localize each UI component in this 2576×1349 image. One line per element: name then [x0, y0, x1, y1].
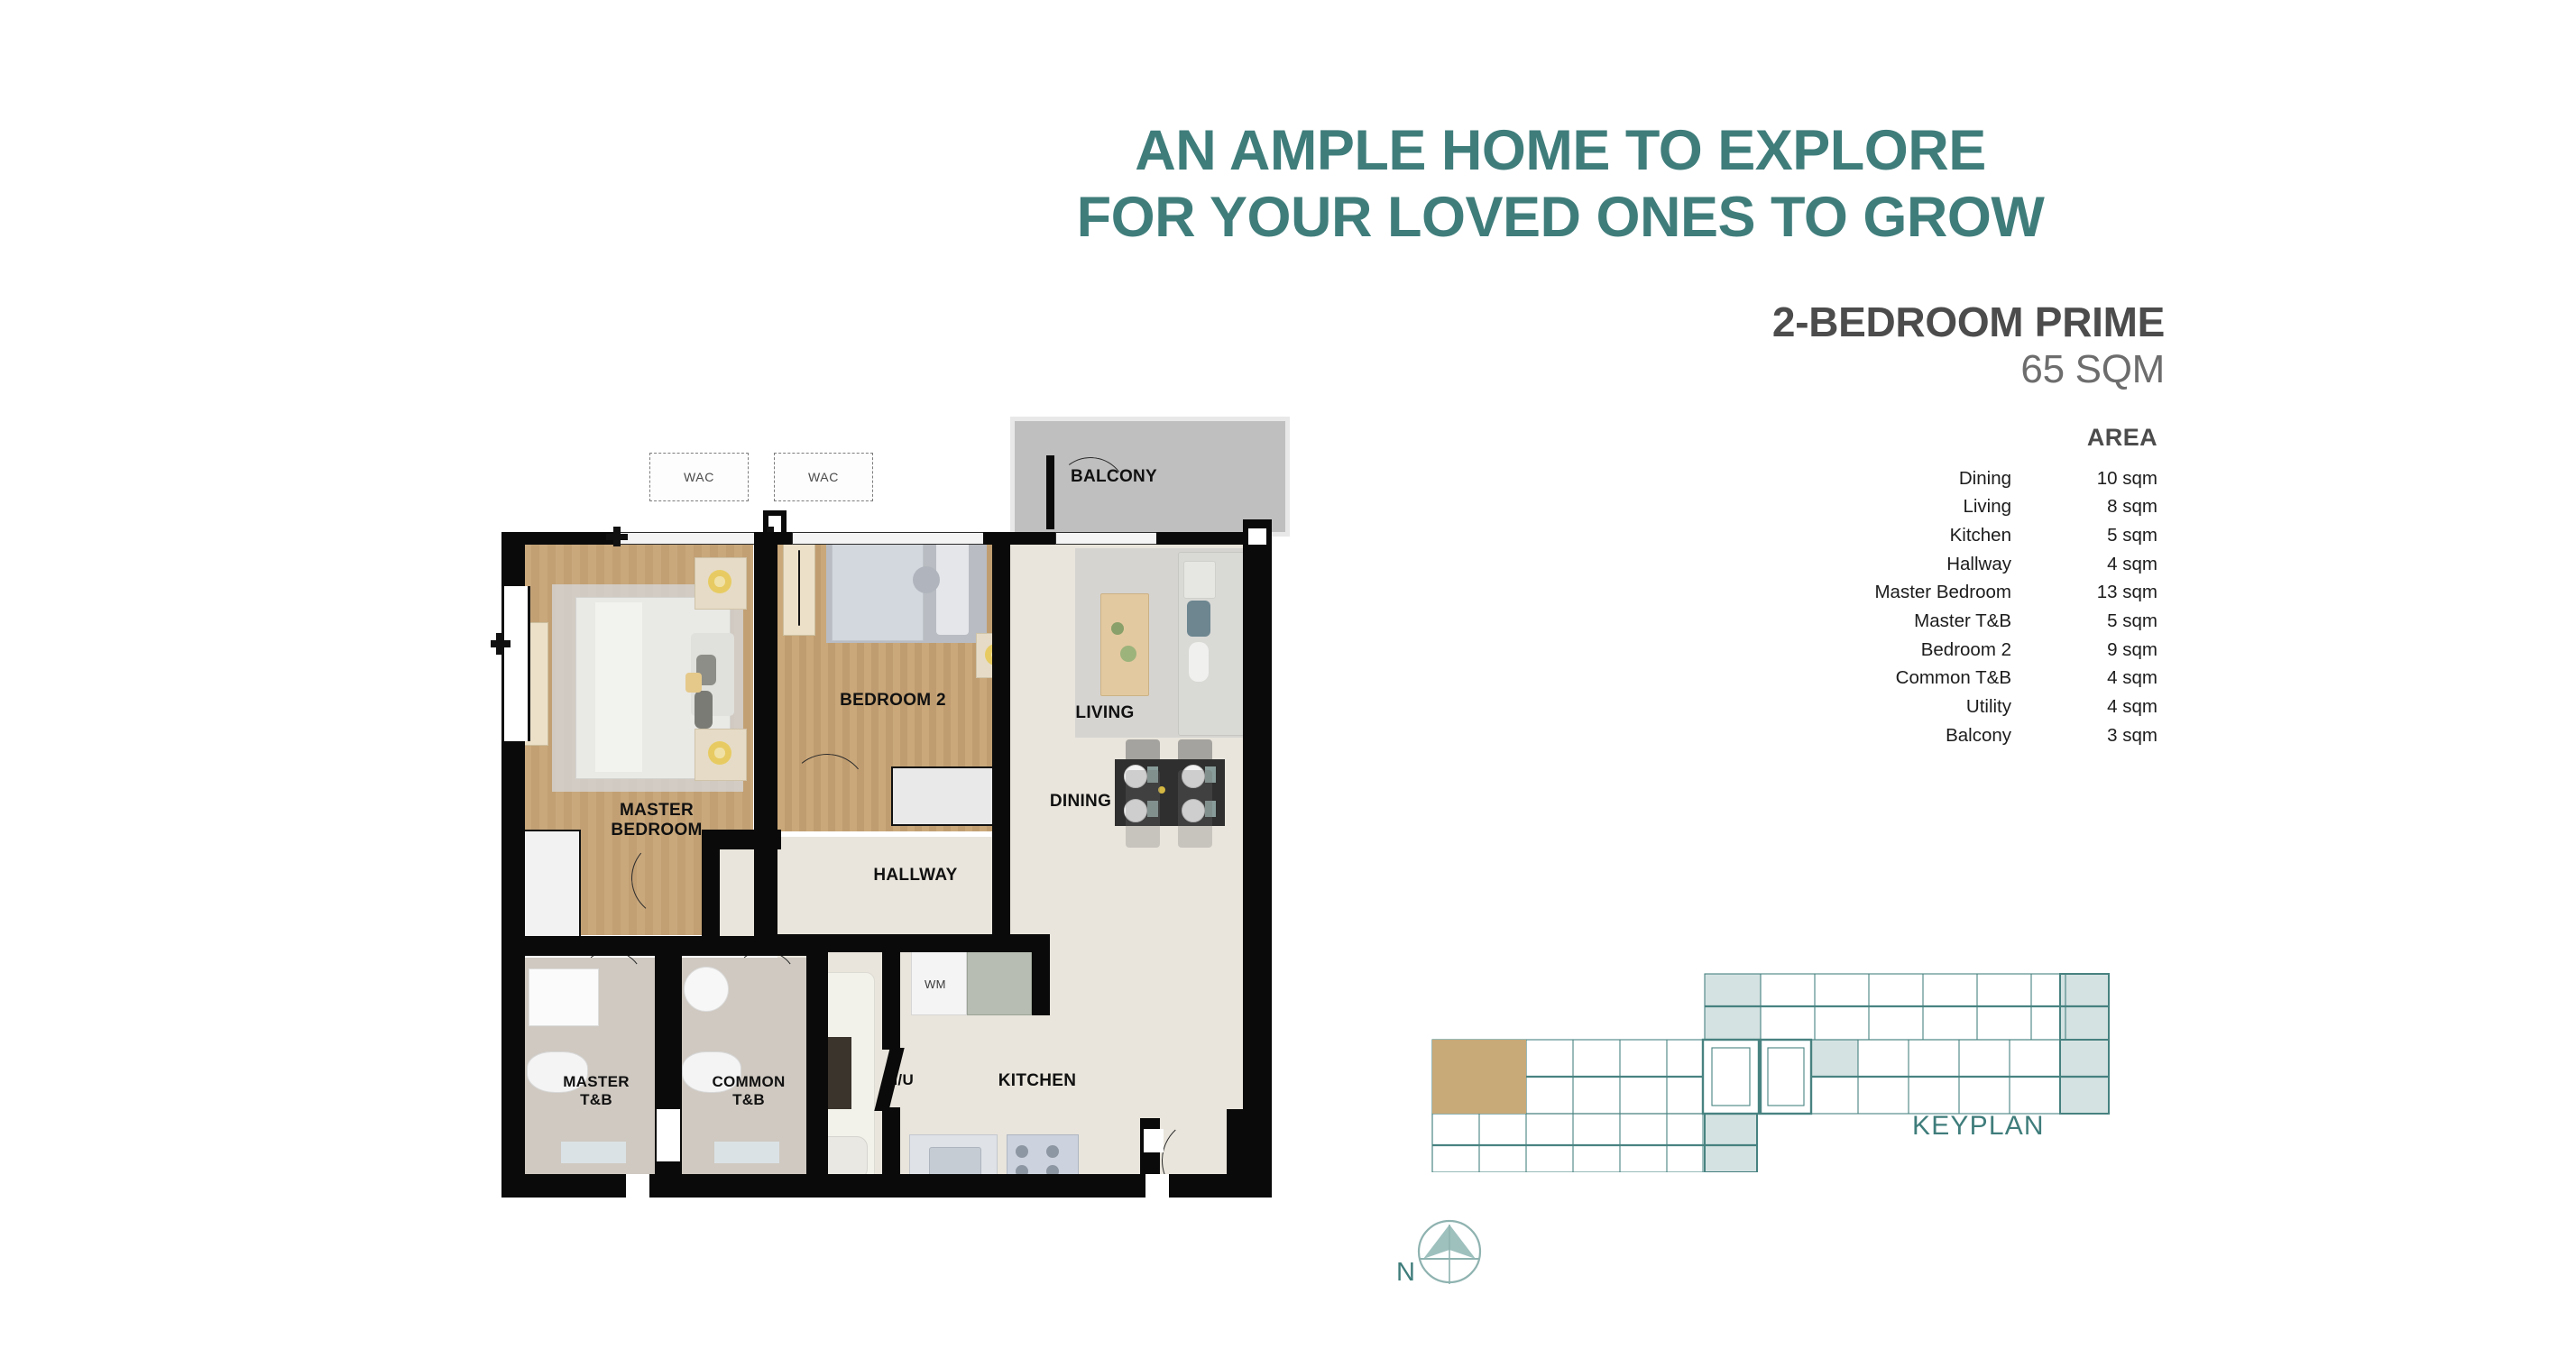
area-row-label: Balcony — [1786, 721, 2049, 750]
area-row-value: 5 sqm — [2049, 607, 2165, 636]
wall-commontb-utility-divider — [806, 936, 828, 1196]
area-row-value: 13 sqm — [2049, 579, 2165, 608]
bedroom2-bed — [832, 538, 924, 641]
window-master-bedroom — [613, 532, 776, 545]
kitchen-refrigerator — [967, 950, 1032, 1015]
keyplan: KEYPLAN — [1407, 956, 2120, 1172]
area-row-value: 9 sqm — [2049, 636, 2165, 665]
wall-outer-left — [501, 741, 525, 1198]
area-row-label: Utility — [1786, 693, 2049, 722]
area-row-value: 4 sqm — [2049, 693, 2165, 722]
living-plant2-icon — [1120, 646, 1136, 662]
area-row-label: Kitchen — [1786, 521, 2049, 550]
dining-chair-3 — [1126, 770, 1160, 848]
mullion-1-cross — [606, 534, 628, 540]
living-sofa-bolster — [1189, 642, 1209, 682]
area-row-label: Master T&B — [1786, 607, 2049, 636]
floor-plan: WAC WAC WAC BALCONY MASTER BEDROOM BEDRO… — [469, 397, 1299, 1163]
balcony-wall-left — [1046, 455, 1054, 529]
bedroom2-closet-left — [783, 539, 815, 636]
table-row: Kitchen 5 sqm — [1786, 521, 2165, 550]
table-row: Dining 10 sqm — [1786, 464, 2165, 493]
wall-entry-right — [1227, 1109, 1243, 1198]
window-bedroom2 — [792, 532, 989, 545]
headline-line-2: FOR YOUR LOVED ONES TO GROW — [956, 184, 2165, 251]
common-tb-shower — [714, 1142, 779, 1163]
right-column-core — [1248, 528, 1266, 546]
mullion-left — [496, 633, 502, 655]
common-tb-lavatory — [684, 967, 729, 1012]
table-row: Master T&B 5 sqm — [1786, 607, 2165, 636]
bottom-opening-1 — [626, 1174, 649, 1198]
area-row-label: Dining — [1786, 464, 2049, 493]
unit-size-subtitle: 65 SQM — [1082, 347, 2165, 392]
wall-kitchen-north — [777, 934, 1048, 952]
unit-type-title: 2-BEDROOM PRIME — [1082, 298, 2165, 346]
bedroom2-bed-pillow — [936, 541, 969, 635]
table-row: Master Bedroom 13 sqm — [1786, 579, 2165, 608]
area-row-value: 10 sqm — [2049, 464, 2165, 493]
bedroom2-console — [891, 766, 1007, 826]
wall-master-bedroom2-divider — [754, 532, 777, 942]
master-tb-shower — [561, 1142, 626, 1163]
area-row-value: 3 sqm — [2049, 721, 2165, 750]
master-lamp-bottom-icon — [708, 741, 731, 765]
area-row-label: Master Bedroom — [1786, 579, 2049, 608]
area-row-value: 4 sqm — [2049, 665, 2165, 693]
table-row: Living 8 sqm — [1786, 493, 2165, 522]
wall-utility-kitchen-lower — [882, 1107, 900, 1196]
table-row: Utility 4 sqm — [1786, 693, 2165, 722]
area-row-label: Bedroom 2 — [1786, 636, 2049, 665]
common-tb-toilet — [682, 1051, 741, 1093]
table-row: Hallway 4 sqm — [1786, 550, 2165, 579]
compass-north-label: N — [1396, 1258, 1415, 1288]
hob-burner-2 — [1046, 1145, 1059, 1158]
tb-divider-opening — [657, 1109, 680, 1161]
area-row-value: 4 sqm — [2049, 550, 2165, 579]
area-schedule: AREA Dining 10 sqm Living 8 sqm Kitchen … — [1786, 424, 2165, 750]
master-bed-accent — [685, 673, 702, 693]
wall-bedroom2-living-divider — [992, 532, 1010, 830]
table-row: Common T&B 4 sqm — [1786, 665, 2165, 693]
wac-box-1: WAC — [649, 453, 749, 501]
headline-line-1: AN AMPLE HOME TO EXPLORE — [956, 117, 2165, 184]
living-plant-icon — [1111, 622, 1124, 635]
area-row-label: Hallway — [1786, 550, 2049, 579]
wall-utility-kitchen-upper — [882, 947, 900, 1050]
dining-chair-4 — [1178, 770, 1212, 848]
window-living-sliding-door — [1055, 532, 1162, 545]
master-bed-blanket — [695, 691, 713, 729]
wall-outer-right — [1243, 545, 1272, 1198]
room-hallway-floor — [709, 837, 1248, 945]
area-heading: AREA — [1786, 424, 2165, 452]
keyplan-unit-highlight — [1432, 1040, 1526, 1114]
area-row-value: 8 sqm — [2049, 493, 2165, 522]
master-tb-toilet — [527, 1051, 588, 1093]
hob-burner-1 — [1016, 1145, 1028, 1158]
closet-bar-icon — [798, 550, 800, 626]
table-row: Bedroom 2 9 sqm — [1786, 636, 2165, 665]
master-bed-sheet — [595, 602, 642, 772]
living-accent-pillow — [1187, 601, 1210, 637]
wall-living-top-left — [1007, 532, 1057, 545]
page-headline: AN AMPLE HOME TO EXPLORE FOR YOUR LOVED … — [956, 117, 2165, 252]
bedroom2-cushion — [913, 566, 940, 593]
bottom-opening-2 — [1145, 1174, 1169, 1198]
area-table: Dining 10 sqm Living 8 sqm Kitchen 5 sqm… — [1786, 464, 2165, 750]
area-row-value: 5 sqm — [2049, 521, 2165, 550]
wall-tb-north — [501, 936, 718, 956]
table-row: Balcony 3 sqm — [1786, 721, 2165, 750]
wall-bedroom2-lower — [992, 819, 1010, 945]
area-row-label: Common T&B — [1786, 665, 2049, 693]
wall-opening-left-window — [501, 586, 530, 741]
entry-opening — [1144, 1129, 1164, 1152]
master-lamp-top-icon — [708, 570, 731, 593]
wac-box-2: WAC — [774, 453, 873, 501]
wall-living-top-right — [1156, 532, 1256, 545]
area-row-label: Living — [1786, 493, 2049, 522]
wall-top-left — [501, 532, 619, 545]
living-coffee-table — [1100, 593, 1149, 696]
keyplan-label: KEYPLAN — [1912, 1111, 2045, 1142]
wall-kitchen-east-upper — [1032, 934, 1050, 1015]
living-sofa-cushion-1 — [1183, 561, 1216, 599]
wm-label: WM — [925, 977, 946, 991]
master-storage-unit — [516, 830, 581, 949]
